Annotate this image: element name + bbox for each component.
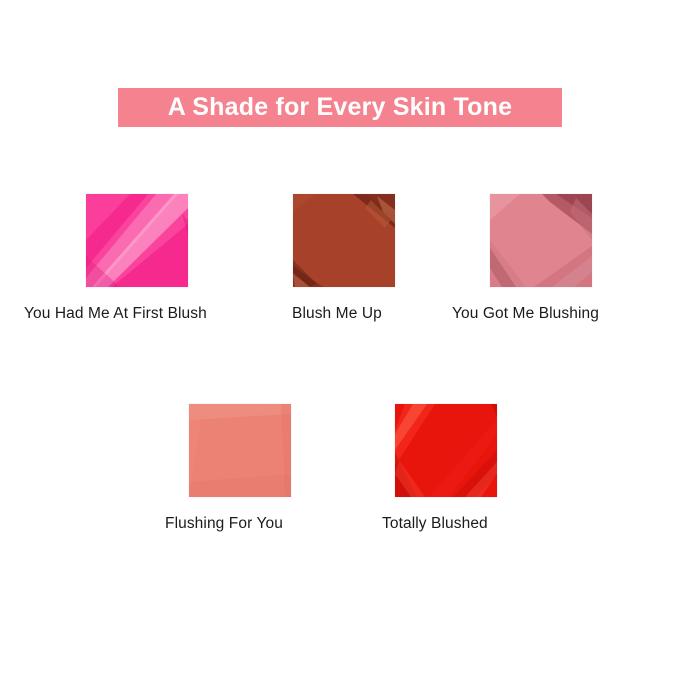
shade-color-chip[interactable] [490, 194, 592, 287]
powder-texture-icon [189, 404, 291, 497]
shade-color-chip[interactable] [395, 404, 497, 497]
cream-texture-icon [293, 194, 395, 287]
shade-name-label: You Had Me At First Blush [24, 305, 207, 322]
cream-texture-icon [395, 404, 497, 497]
shade-color-chip[interactable] [293, 194, 395, 287]
shade-swatch-item[interactable]: Totally Blushed [395, 404, 497, 532]
shade-swatch-item[interactable]: You Got Me Blushing [490, 194, 599, 322]
shade-name-label: You Got Me Blushing [452, 305, 599, 322]
shade-name-label: Blush Me Up [292, 305, 395, 322]
shade-color-chip[interactable] [189, 404, 291, 497]
page-title: A Shade for Every Skin Tone [168, 95, 512, 120]
shade-swatch-item[interactable]: Flushing For You [189, 404, 291, 532]
cream-texture-icon [490, 194, 592, 287]
cream-texture-icon [86, 194, 188, 287]
header-banner: A Shade for Every Skin Tone [118, 88, 562, 127]
shade-name-label: Totally Blushed [382, 515, 497, 532]
shade-range-poster: A Shade for Every Skin Tone You Had Me A… [0, 0, 679, 679]
shade-swatch-item[interactable]: You Had Me At First Blush [86, 194, 207, 322]
shade-swatch-item[interactable]: Blush Me Up [293, 194, 395, 322]
shade-name-label: Flushing For You [165, 515, 291, 532]
shade-color-chip[interactable] [86, 194, 188, 287]
